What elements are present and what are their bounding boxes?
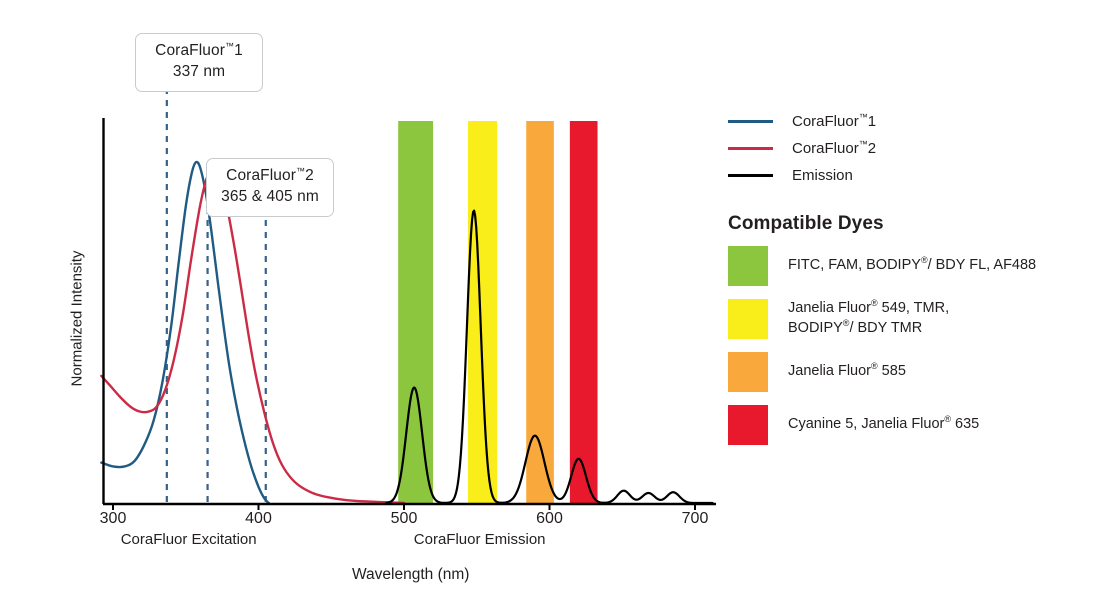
legend-label-text: CoraFluor — [792, 140, 859, 157]
trademark-icon: ™ — [859, 112, 868, 122]
dye-label-line1: FITC, FAM, BODIPY®/ BDY FL, AF488 — [788, 257, 1036, 273]
legend-label-2: Emission — [792, 167, 853, 184]
dye-name-text: FITC, FAM, BODIPY — [788, 257, 921, 273]
trademark-icon: ™ — [859, 139, 868, 149]
trademark-icon: ™ — [296, 166, 305, 176]
callout-2-line2: 365 & 405 nm — [217, 187, 323, 208]
dye-tail-text: 585 — [878, 363, 906, 379]
compatible-dyes-list: FITC, FAM, BODIPY®/ BDY FL, AF488Janelia… — [728, 244, 1100, 447]
callout-1-line1: CoraFluor™1 — [146, 41, 252, 62]
series-legend: CoraFluor™1CoraFluor™2Emission — [728, 108, 1100, 189]
right-panel: CoraFluor™1CoraFluor™2Emission Compatibl… — [728, 108, 1100, 447]
dye-name-text: Cyanine 5, Janelia Fluor — [788, 416, 944, 432]
registered-icon: ® — [871, 361, 878, 371]
legend-label-1: CoraFluor™2 — [792, 140, 876, 157]
dye-label-3: Cyanine 5, Janelia Fluor® 635 — [788, 415, 979, 435]
dye-item-1: Janelia Fluor® 549, TMR,BODIPY®/ BDY TMR — [728, 297, 1100, 341]
red-band — [570, 121, 598, 503]
x-axis-title: Wavelength (nm) — [352, 566, 469, 584]
curve-corafluor-2-excitation — [101, 170, 404, 503]
legend-label-0: CoraFluor™1 — [792, 113, 876, 130]
section-label-excitation: CoraFluor Excitation — [79, 531, 299, 548]
dye-tail-text-2: / BDY TMR — [849, 320, 922, 336]
callout-2-name: CoraFluor — [226, 167, 296, 184]
callout-corafluor-1: CoraFluor™1 337 nm — [135, 33, 263, 92]
dye-label-line1: Janelia Fluor® 585 — [788, 363, 906, 379]
x-tick-label-700: 700 — [677, 510, 713, 528]
dye-item-3: Cyanine 5, Janelia Fluor® 635 — [728, 403, 1100, 447]
x-tick-label-500: 500 — [386, 510, 422, 528]
legend-label-suffix: 2 — [868, 140, 876, 157]
callout-1-name: CoraFluor — [155, 42, 225, 59]
dye-color-swatch-icon — [728, 246, 768, 286]
legend-item-0: CoraFluor™1 — [728, 108, 1100, 135]
dye-label-1: Janelia Fluor® 549, TMR,BODIPY®/ BDY TMR — [788, 299, 949, 338]
legend-label-text: Emission — [792, 167, 853, 184]
x-tick-label-300: 300 — [95, 510, 131, 528]
dye-label-2: Janelia Fluor® 585 — [788, 362, 906, 382]
emission-bands-group — [398, 121, 597, 503]
legend-line-swatch-icon — [728, 120, 773, 123]
legend-item-1: CoraFluor™2 — [728, 135, 1100, 162]
callout-1-suffix: 1 — [234, 42, 243, 59]
excitation-markers-group — [167, 88, 266, 503]
x-tick-label-600: 600 — [532, 510, 568, 528]
callout-2-line1: CoraFluor™2 — [217, 166, 323, 187]
dye-tail-text: / BDY FL, AF488 — [928, 257, 1037, 273]
legend-label-text: CoraFluor — [792, 113, 859, 130]
dye-item-0: FITC, FAM, BODIPY®/ BDY FL, AF488 — [728, 244, 1100, 288]
dye-item-2: Janelia Fluor® 585 — [728, 350, 1100, 394]
registered-icon: ® — [871, 299, 878, 309]
dye-name-text-2: BODIPY — [788, 320, 843, 336]
dye-color-swatch-icon — [728, 299, 768, 339]
legend-line-swatch-icon — [728, 147, 773, 150]
dye-tail-text: 635 — [951, 416, 979, 432]
dye-label-line2: BODIPY®/ BDY TMR — [788, 319, 949, 339]
legend-label-suffix: 1 — [868, 113, 876, 130]
legend-item-2: Emission — [728, 162, 1100, 189]
dye-color-swatch-icon — [728, 352, 768, 392]
callout-1-line2: 337 nm — [146, 62, 252, 83]
yellow-band — [468, 121, 497, 503]
spectra-figure: CoraFluor™1 337 nm CoraFluor™2 365 & 405… — [0, 0, 1110, 612]
callout-corafluor-2: CoraFluor™2 365 & 405 nm — [206, 158, 334, 217]
y-axis-title: Normalized Intensity — [69, 239, 86, 399]
legend-line-swatch-icon — [728, 174, 773, 177]
compatible-dyes-title: Compatible Dyes — [728, 213, 1100, 235]
dye-color-swatch-icon — [728, 405, 768, 445]
dye-tail-text: 549, TMR, — [878, 300, 949, 316]
callout-2-suffix: 2 — [305, 167, 314, 184]
trademark-icon: ™ — [225, 41, 234, 51]
dye-label-line1: Janelia Fluor® 549, TMR, — [788, 300, 949, 316]
registered-icon: ® — [921, 255, 928, 265]
green-band — [398, 121, 433, 503]
dye-name-text: Janelia Fluor — [788, 300, 871, 316]
x-tick-label-400: 400 — [241, 510, 277, 528]
dye-name-text: Janelia Fluor — [788, 363, 871, 379]
dye-label-0: FITC, FAM, BODIPY®/ BDY FL, AF488 — [788, 256, 1036, 276]
section-label-emission: CoraFluor Emission — [370, 531, 590, 548]
dye-label-line1: Cyanine 5, Janelia Fluor® 635 — [788, 416, 979, 432]
